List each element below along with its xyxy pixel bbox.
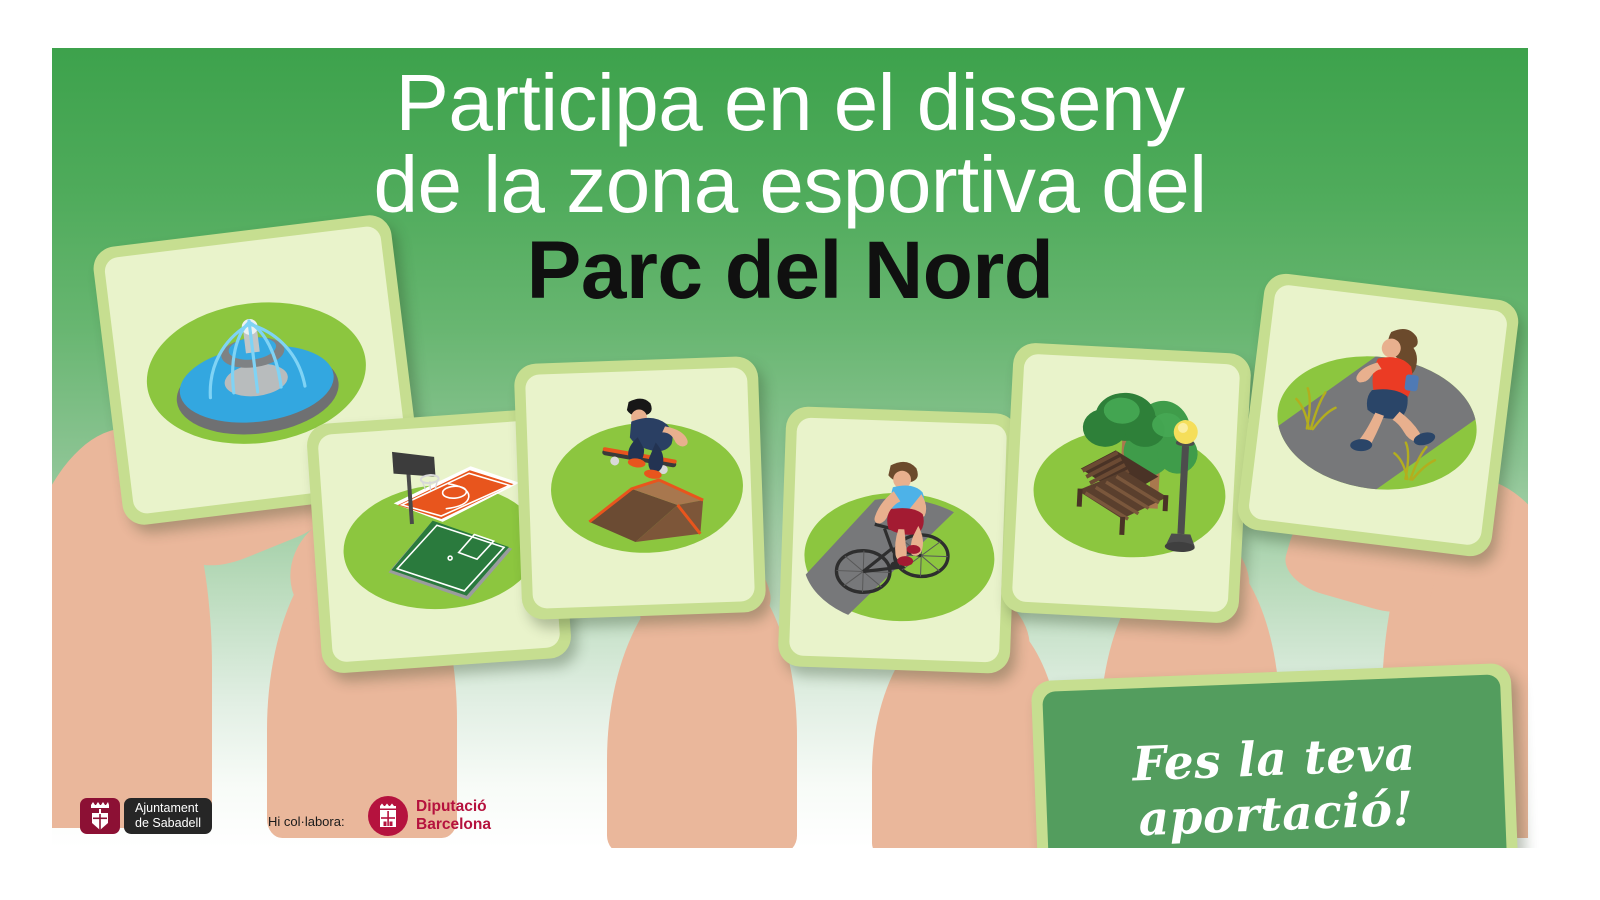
diputacio-line-1: Diputació <box>416 798 491 816</box>
sabadell-name: Ajuntament de Sabadell <box>124 798 212 834</box>
card-bench[interactable] <box>1000 342 1252 624</box>
sabadell-line-1: Ajuntament <box>135 801 201 816</box>
card-skate-inner <box>525 367 755 609</box>
sabadell-line-2: de Sabadell <box>135 816 201 831</box>
sabadell-crest-icon <box>80 798 120 834</box>
cyclist-icon <box>789 417 1007 662</box>
cta-line-2: aportació! <box>1138 782 1415 848</box>
logo-ajuntament-sabadell[interactable]: Ajuntament de Sabadell <box>80 798 212 834</box>
card-runner[interactable] <box>1235 271 1521 558</box>
cta-text: Fes la teva aportació! <box>1131 727 1418 848</box>
banner-stage: Participa en el disseny de la zona espor… <box>0 0 1600 900</box>
card-runner-inner <box>1247 284 1508 547</box>
diputacio-name: Diputació Barcelona <box>416 798 491 834</box>
card-skate[interactable] <box>514 356 767 620</box>
skate-ramp-icon <box>525 367 755 609</box>
runner-icon <box>1247 284 1508 547</box>
diputacio-crest-icon <box>368 796 408 836</box>
collaborate-label: Hi col·labora: <box>268 814 345 829</box>
card-bike[interactable] <box>778 406 1019 674</box>
park-bench-icon <box>1012 354 1241 613</box>
diputacio-line-2: Barcelona <box>416 816 491 834</box>
card-bench-inner <box>1012 354 1241 613</box>
footer-logos: Ajuntament de Sabadell Hi col·labora: <box>0 848 1600 900</box>
logo-diputacio-barcelona[interactable]: Diputació Barcelona <box>368 796 491 836</box>
card-bike-inner <box>789 417 1007 662</box>
